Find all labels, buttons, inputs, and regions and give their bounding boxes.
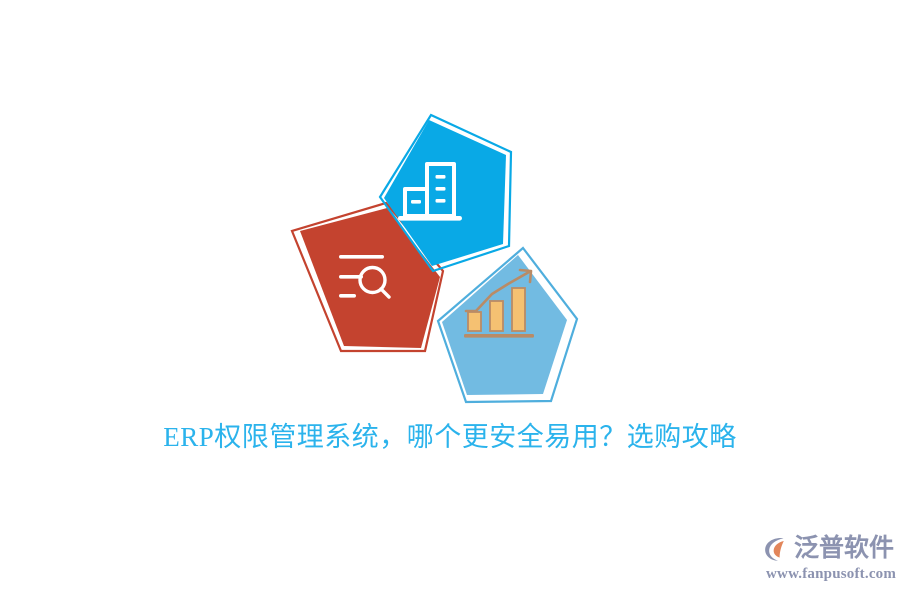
pentagon-chart-fill — [442, 255, 567, 395]
page-canvas: ERP权限管理系统，哪个更安全易用？选购攻略 泛普软件 www.fanpusof… — [0, 0, 900, 600]
page-title: ERP权限管理系统，哪个更安全易用？选购攻略 — [0, 420, 900, 454]
fanpu-c-mark-icon — [762, 534, 792, 564]
brand-watermark[interactable]: 泛普软件 www.fanpusoft.com — [762, 532, 894, 588]
pentagon-chart — [438, 248, 577, 402]
brand-logo-row: 泛普软件 — [762, 532, 894, 566]
brand-name: 泛普软件 — [794, 535, 894, 563]
brand-url: www.fanpusoft.com — [766, 566, 896, 583]
hero-graphic — [270, 98, 590, 410]
